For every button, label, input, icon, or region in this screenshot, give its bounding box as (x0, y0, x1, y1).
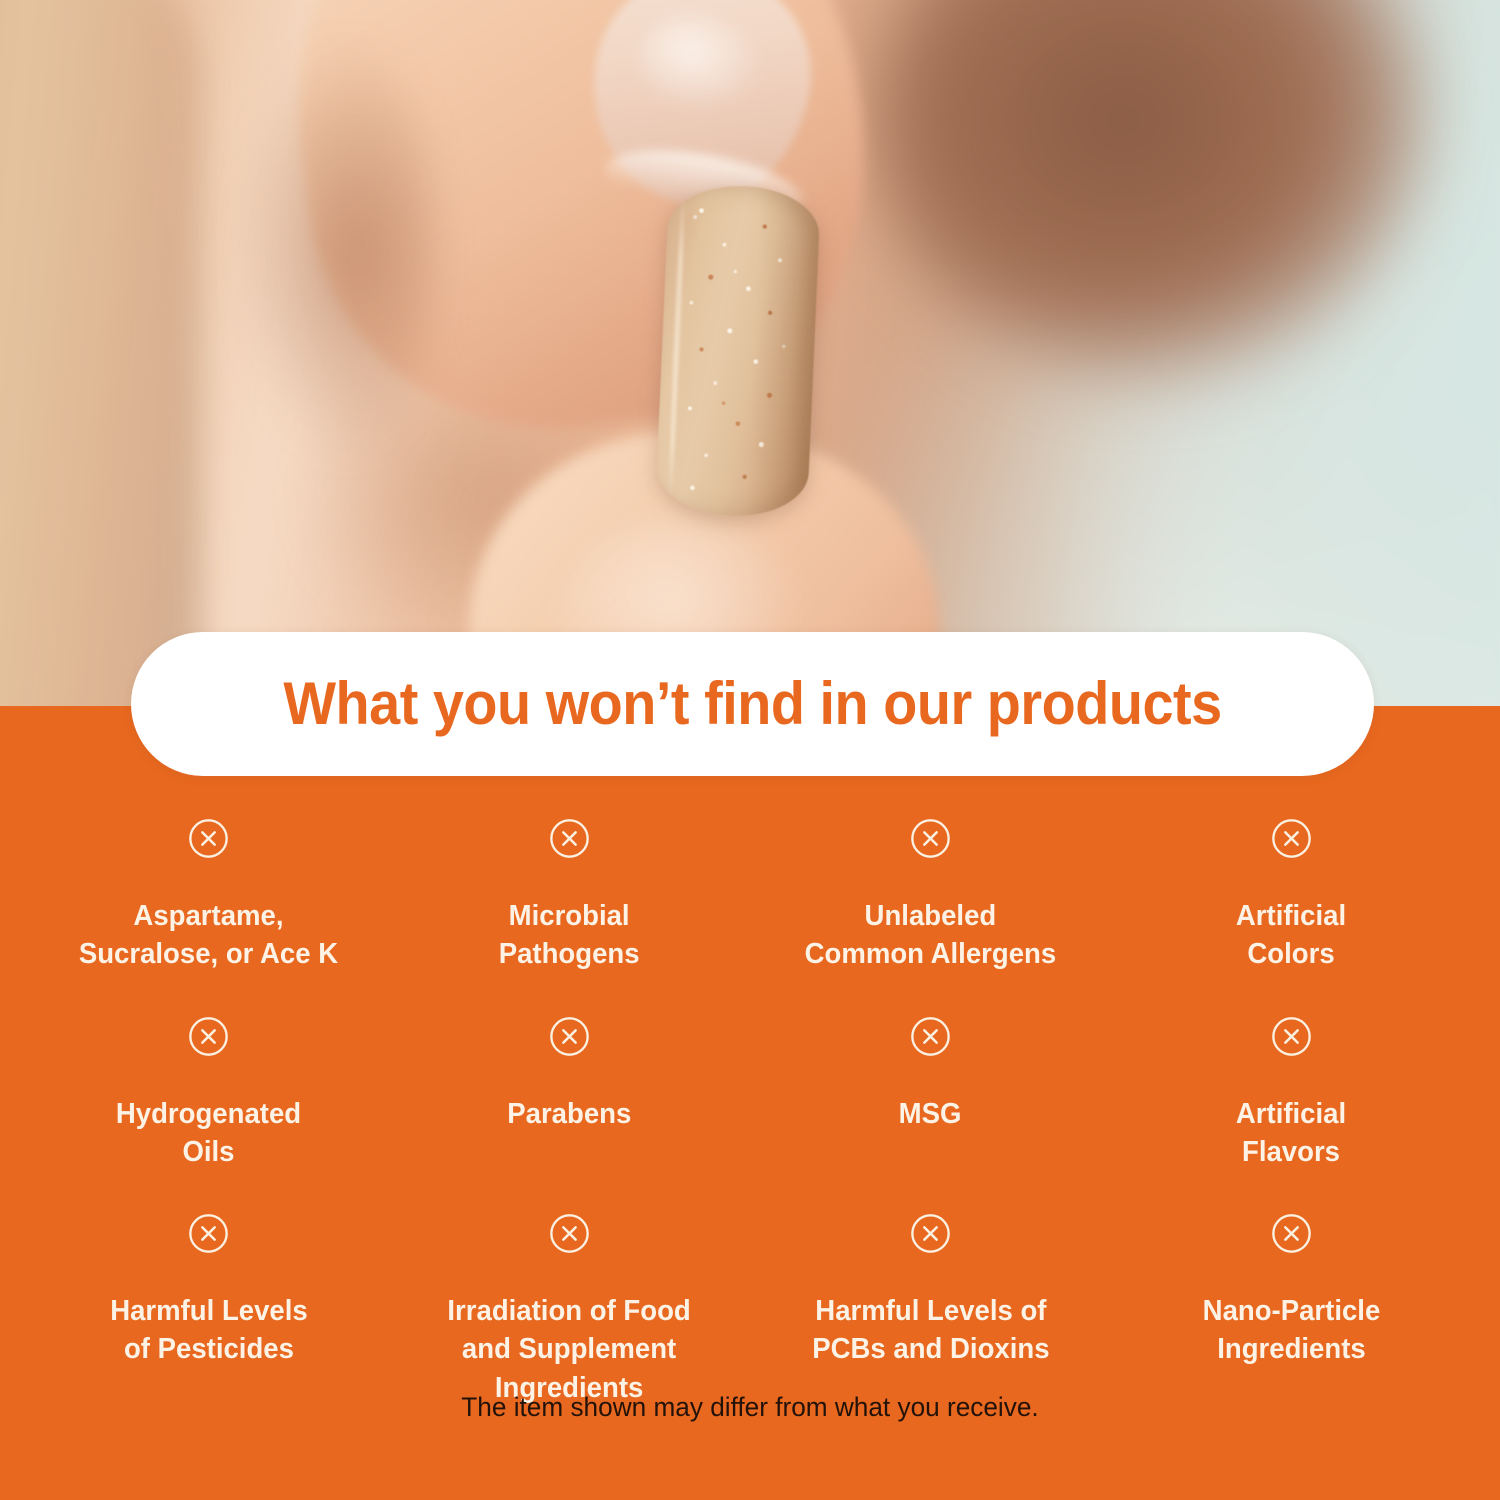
circle-x-icon (1271, 1016, 1312, 1057)
grid-cell-label: Artificial Colors (1236, 897, 1346, 974)
grid-cell-nano-particle-ingredients: Nano-Particle Ingredients (1111, 1213, 1472, 1407)
page-title: What you won’t find in our products (283, 674, 1221, 734)
grid-cell-label: Parabens (507, 1095, 631, 1133)
circle-x-icon (549, 1213, 590, 1254)
product-infographic-page: What you won’t find in our products Aspa… (0, 0, 1500, 1500)
grid-cell-irradiation-of-food-and-supplement-ingredients: Irradiation of Food and Supplement Ingre… (389, 1213, 750, 1407)
grid-cell-label: Harmful Levels of Pesticides (110, 1292, 308, 1369)
grid-cell-unlabeled-common-allergens: Unlabeled Common Allergens (750, 818, 1111, 974)
circle-x-icon (910, 1016, 951, 1057)
grid-cell-artificial-flavors: Artificial Flavors (1111, 1016, 1472, 1172)
page-title-emphasis: won’t (546, 670, 689, 737)
grid-cell-harmful-levels-of-pcbs-and-dioxins: Harmful Levels of PCBs and Dioxins (750, 1213, 1111, 1407)
grid-cell-hydrogenated-oils: Hydrogenated Oils (28, 1016, 389, 1172)
grid-cell-label: MSG (899, 1095, 962, 1133)
grid-cell-label: Artificial Flavors (1236, 1095, 1346, 1172)
circle-x-icon (188, 1213, 229, 1254)
circle-x-icon (188, 818, 229, 859)
headline-card: What you won’t find in our products (131, 632, 1374, 776)
disclaimer-text: The item shown may differ from what you … (23, 1392, 1478, 1423)
grid-cell-label: Hydrogenated Oils (116, 1095, 301, 1172)
circle-x-icon (1271, 818, 1312, 859)
page-title-part1: What you (283, 670, 545, 737)
circle-x-icon (549, 818, 590, 859)
grid-cell-harmful-levels-of-pesticides: Harmful Levels of Pesticides (28, 1213, 389, 1407)
grid-cell-label: Harmful Levels of PCBs and Dioxins (812, 1292, 1049, 1369)
grid-cell-label: Aspartame, Sucralose, or Ace K (79, 897, 338, 974)
grid-cell-parabens: Parabens (389, 1016, 750, 1172)
photo-forearm-blur (0, 0, 200, 712)
circle-x-icon (188, 1016, 229, 1057)
grid-cell-label: Irradiation of Food and Supplement Ingre… (448, 1292, 691, 1407)
hero-photo (0, 0, 1500, 712)
grid-cell-label: Microbial Pathogens (499, 897, 640, 974)
circle-x-icon (1271, 1213, 1312, 1254)
grid-cell-label: Unlabeled Common Allergens (805, 897, 1057, 974)
grid-cell-label: Nano-Particle Ingredients (1203, 1292, 1381, 1369)
page-title-part2: find in our products (689, 670, 1222, 737)
grid-cell-aspartame-sucralose-ace-k: Aspartame, Sucralose, or Ace K (28, 818, 389, 974)
circle-x-icon (549, 1016, 590, 1057)
supplement-tablet (655, 183, 821, 519)
excluded-ingredients-grid: Aspartame, Sucralose, or Ace K Microbial… (0, 818, 1500, 1407)
grid-cell-microbial-pathogens: Microbial Pathogens (389, 818, 750, 974)
grid-cell-msg: MSG (750, 1016, 1111, 1172)
photo-thumb-shadow (238, 40, 438, 460)
circle-x-icon (910, 1213, 951, 1254)
grid-cell-artificial-colors: Artificial Colors (1111, 818, 1472, 974)
circle-x-icon (910, 818, 951, 859)
